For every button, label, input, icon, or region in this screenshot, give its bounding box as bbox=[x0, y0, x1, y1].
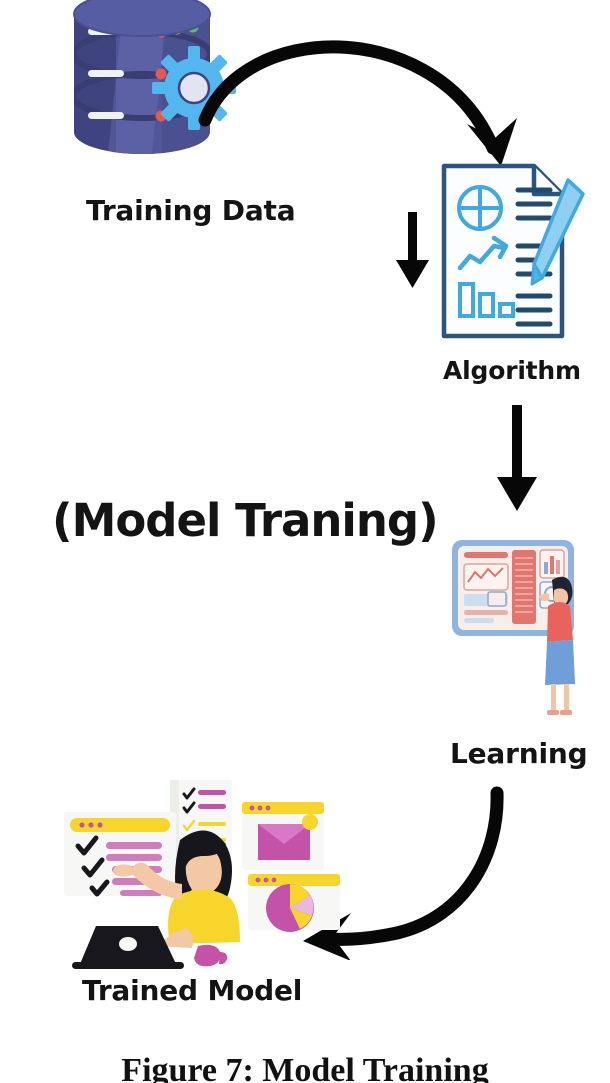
trained-model-icon bbox=[58, 778, 358, 973]
card-email bbox=[242, 802, 324, 870]
person-figure bbox=[539, 577, 575, 715]
arrow-down-small bbox=[392, 212, 434, 294]
figure-model-training: Training Data bbox=[0, 0, 610, 1083]
card-pie-chart bbox=[248, 874, 340, 932]
algorithm-icon bbox=[438, 160, 586, 342]
label-training-data: Training Data bbox=[86, 194, 295, 227]
label-trained-model: Trained Model bbox=[82, 974, 302, 1007]
figure-caption: Figure 7: Model Training bbox=[0, 1052, 610, 1083]
diagram-title: (Model Traning) bbox=[52, 494, 438, 547]
arrow-algorithm-to-learning bbox=[492, 405, 544, 517]
crosshair-target-icon bbox=[459, 187, 501, 229]
label-algorithm: Algorithm bbox=[443, 356, 581, 385]
label-learning: Learning bbox=[450, 737, 587, 770]
learning-icon bbox=[448, 528, 598, 733]
